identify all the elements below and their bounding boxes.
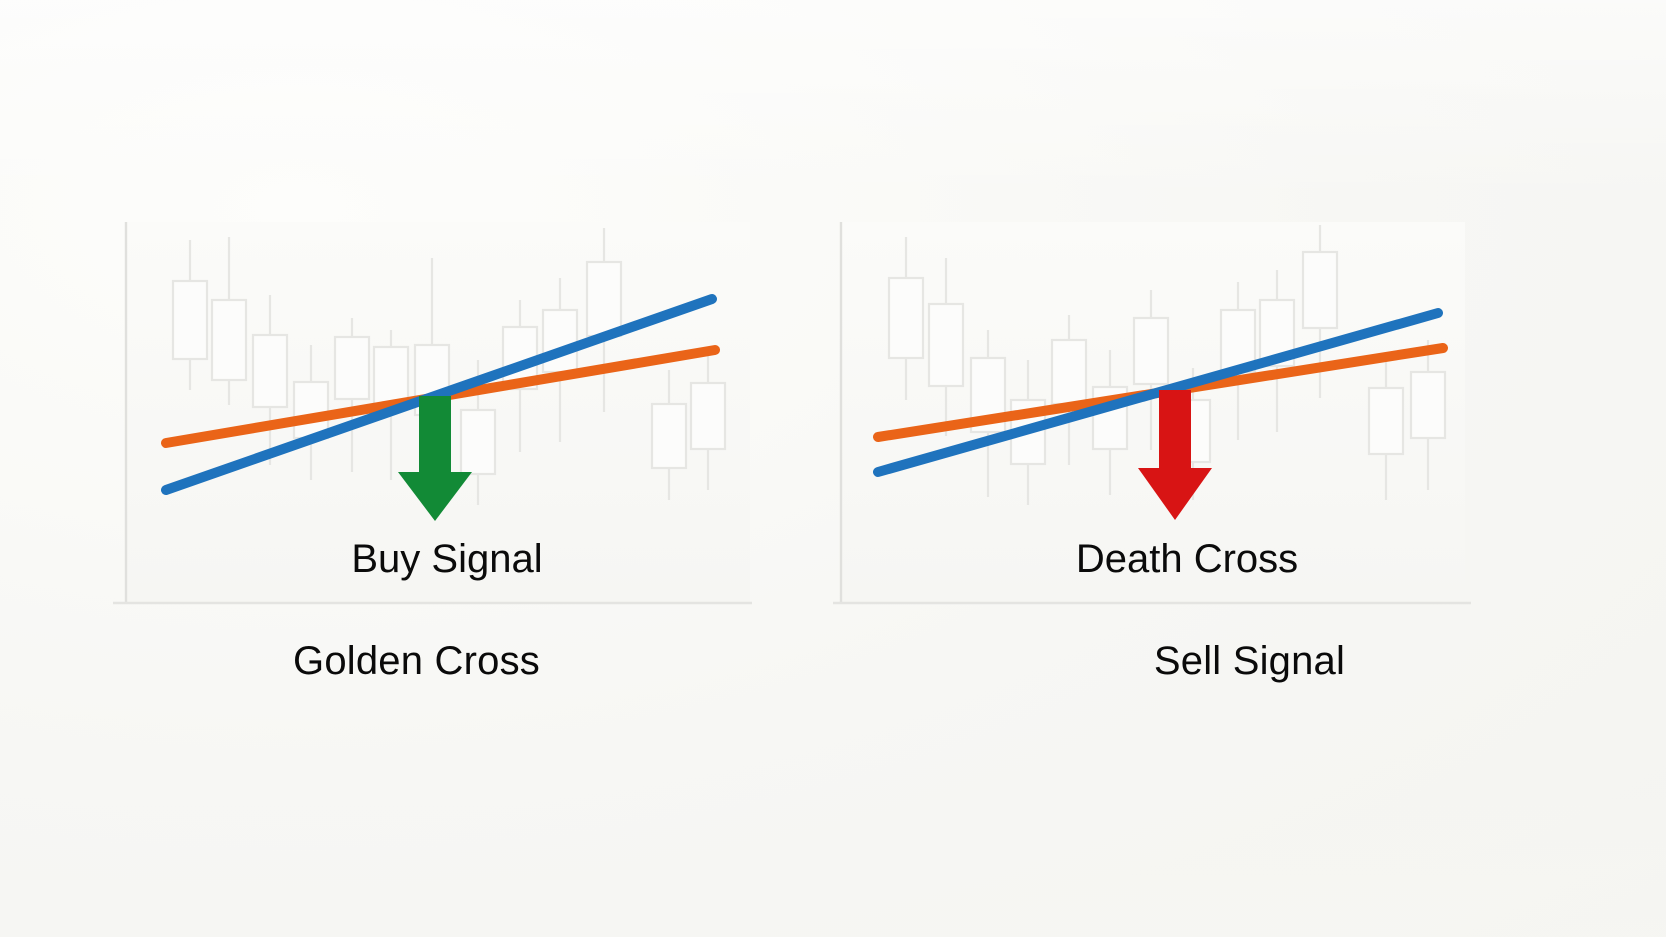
candle-body <box>889 278 923 358</box>
panel-death-cross: Death Cross Sell Signal <box>833 0 1666 937</box>
death-cross-text: Death Cross <box>1076 537 1298 581</box>
caption-text: Golden Cross <box>293 639 540 684</box>
candle-body <box>1134 318 1168 384</box>
candle-body <box>173 281 207 359</box>
candle-body <box>1411 372 1445 438</box>
candle-body <box>691 383 725 449</box>
panel-caption-golden-cross: Golden Cross <box>0 639 833 684</box>
candle-body <box>543 310 577 372</box>
candle-body <box>1052 340 1086 404</box>
candle-body <box>1369 388 1403 454</box>
candle-body <box>652 404 686 468</box>
candle-body <box>461 410 495 474</box>
candle-body <box>1303 252 1337 328</box>
candle-body <box>212 300 246 380</box>
caption-text: Sell Signal <box>1154 639 1345 684</box>
golden-cross-svg: Buy Signal <box>0 0 833 937</box>
candle-body <box>929 304 963 386</box>
panel-golden-cross: Buy Signal Golden Cross <box>0 0 833 937</box>
chart-death-cross: Death Cross <box>833 0 1666 937</box>
candle-body <box>253 335 287 407</box>
candle-body <box>587 262 621 336</box>
candle-body <box>294 382 328 438</box>
death-cross-svg: Death Cross <box>833 0 1666 937</box>
chart-golden-cross: Buy Signal <box>0 0 833 937</box>
candle-body <box>335 337 369 399</box>
panel-container: Buy Signal Golden Cross <box>0 0 1666 937</box>
panel-caption-death-cross: Sell Signal <box>833 639 1666 684</box>
buy-signal-text: Buy Signal <box>351 537 542 581</box>
